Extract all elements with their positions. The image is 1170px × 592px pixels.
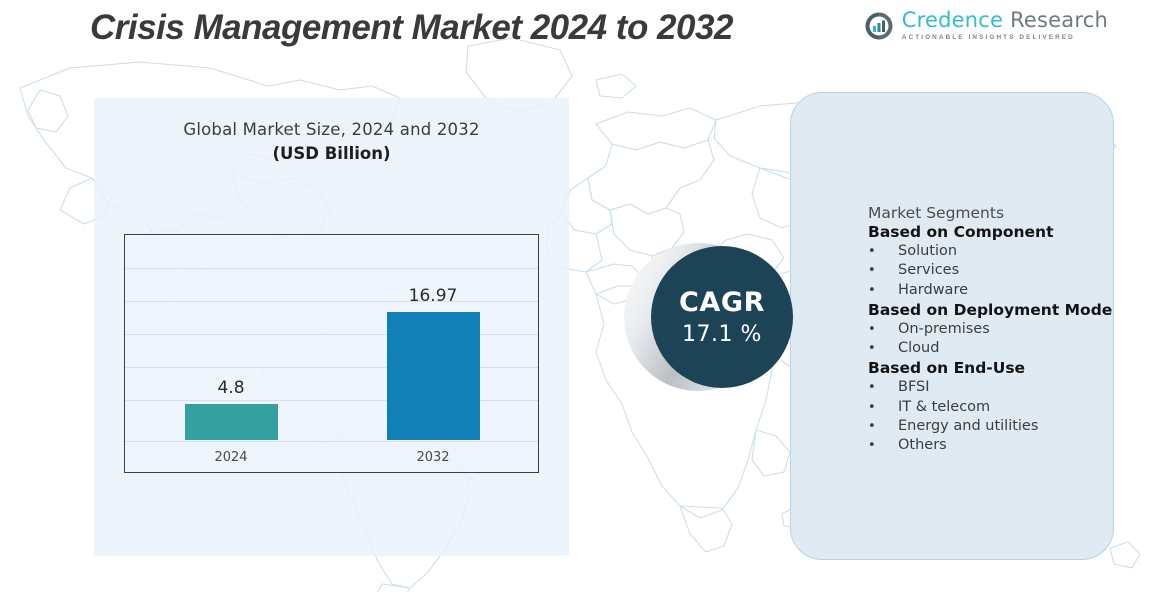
segment-item: • IT & telecom xyxy=(868,398,1118,417)
segment-item-label: Solution xyxy=(898,242,957,261)
brand-text: Credence Research Actionable Insights De… xyxy=(902,10,1108,41)
segment-item: • Energy and utilities xyxy=(868,417,1118,436)
bar-2032 xyxy=(387,312,480,440)
segment-item-label: Services xyxy=(898,261,959,280)
bullet-icon: • xyxy=(868,340,898,357)
cagr-value: 17.1 % xyxy=(682,322,762,347)
chart-title: Global Market Size, 2024 and 2032 xyxy=(94,120,569,139)
bullet-icon: • xyxy=(868,262,898,279)
bullet-icon: • xyxy=(868,418,898,435)
brand-logo: Credence Research Actionable Insights De… xyxy=(864,10,1108,41)
chart-heading: Global Market Size, 2024 and 2032 (USD B… xyxy=(94,120,569,163)
segment-item-label: IT & telecom xyxy=(898,398,990,417)
bar-label-2024: 2024 xyxy=(171,450,291,465)
segment-item-label: On-premises xyxy=(898,320,990,339)
bullet-icon: • xyxy=(868,282,898,299)
bar-value-2032: 16.97 xyxy=(373,286,493,306)
segment-item: • On-premises xyxy=(868,320,1118,339)
bullet-icon: • xyxy=(868,379,898,396)
market-size-chart: Global Market Size, 2024 and 2032 (USD B… xyxy=(94,98,569,556)
segments-heading: Market Segments xyxy=(868,204,1118,222)
segment-item-label: BFSI xyxy=(898,378,930,397)
chart-plot-area: 4.8 16.97 2024 2032 xyxy=(124,234,539,473)
brand-name-second: Research xyxy=(1010,8,1108,32)
segment-item: • BFSI xyxy=(868,378,1118,397)
segment-item-label: Cloud xyxy=(898,339,939,358)
cagr-badge: CAGR 17.1 % xyxy=(624,243,799,391)
brand-tagline: Actionable Insights Delivered xyxy=(902,35,1108,41)
page-title: Crisis Management Market 2024 to 2032 xyxy=(90,8,733,48)
bullet-icon: • xyxy=(868,399,898,416)
bar-value-2024: 4.8 xyxy=(171,378,291,398)
segment-item-label: Others xyxy=(898,436,947,455)
segment-item: • Hardware xyxy=(868,281,1118,300)
segment-item: • Services xyxy=(868,261,1118,280)
bullet-icon: • xyxy=(868,243,898,260)
segment-item: • Solution xyxy=(868,242,1118,261)
bullet-icon: • xyxy=(868,437,898,454)
gridline-baseline xyxy=(125,441,538,442)
segment-item: • Others xyxy=(868,436,1118,455)
segment-item: • Cloud xyxy=(868,339,1118,358)
segment-group-title-deployment: Based on Deployment Mode xyxy=(868,301,1118,319)
segment-item-label: Energy and utilities xyxy=(898,417,1038,436)
gridline xyxy=(125,268,538,269)
bar-label-2032: 2032 xyxy=(373,450,493,465)
market-segments: Market Segments Based on Component • Sol… xyxy=(868,204,1118,456)
circle-bar-chart-icon xyxy=(864,11,894,41)
cagr-circle: CAGR 17.1 % xyxy=(651,246,793,388)
bar-2024 xyxy=(185,404,278,440)
chart-subtitle: (USD Billion) xyxy=(94,144,569,163)
bullet-icon: • xyxy=(868,321,898,338)
segment-item-label: Hardware xyxy=(898,281,968,300)
segment-group-title-end-use: Based on End-Use xyxy=(868,359,1118,377)
brand-name: Credence Research xyxy=(902,10,1108,31)
segment-group-title-component: Based on Component xyxy=(868,223,1118,241)
cagr-label: CAGR xyxy=(679,287,765,318)
brand-name-first: Credence xyxy=(902,8,1003,32)
